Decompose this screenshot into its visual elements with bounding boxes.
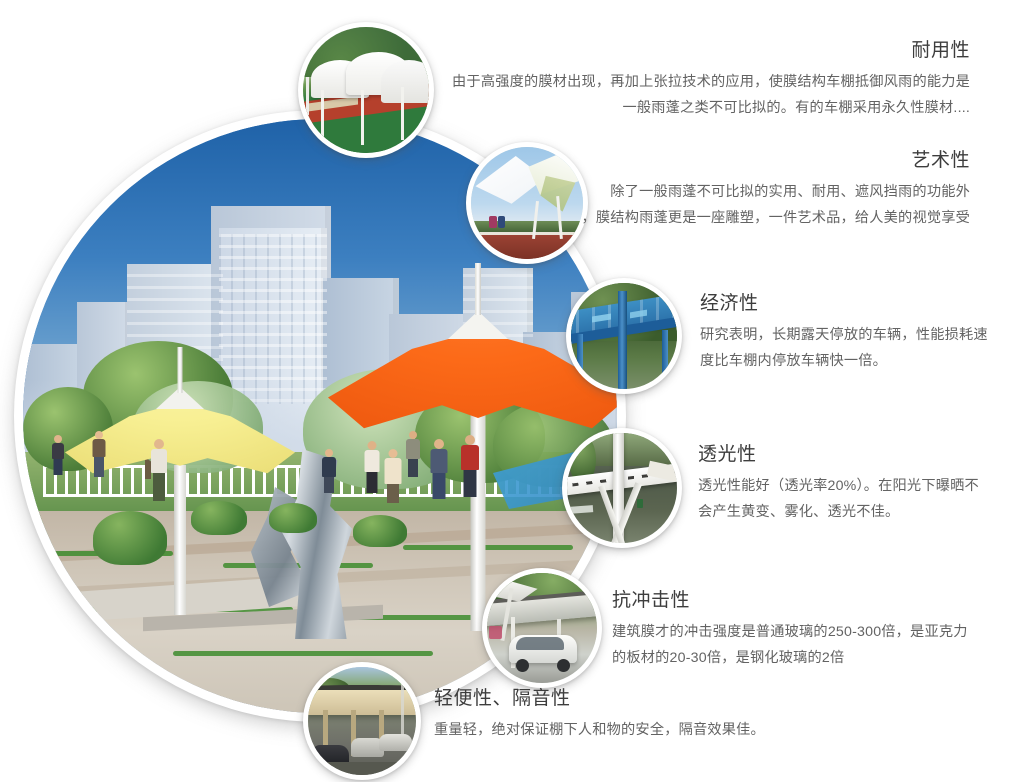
feature-heading: 耐用性 (430, 40, 970, 63)
feature-thumb-economy[interactable] (566, 278, 682, 394)
pedestrian (51, 435, 65, 475)
feature-heading: 抗冲击性 (612, 590, 1012, 613)
pedestrian (149, 439, 169, 501)
pedestrian (459, 435, 481, 497)
infographic-canvas: 耐用性 由于高强度的膜材出现，再加上张拉技术的应用，使膜结构车棚抵御风雨的能力是… (0, 0, 1023, 782)
pedestrian (405, 431, 421, 477)
feature-body: 重量轻，绝对保证棚下人和物的安全，隔音效果佳。 (434, 717, 854, 743)
thumb-image-car-under-carport (487, 573, 597, 683)
feature-text-economy: 经济性 研究表明，长期露天停放的车辆，性能损耗速 度比车棚内停放车辆快一倍。 (700, 293, 1000, 374)
feature-thumb-lightweight-soundproof[interactable] (303, 662, 421, 780)
feature-body: 透光性能好（透光率20%）。在阳光下曝晒不 会产生黄变、雾化、透光不佳。 (698, 473, 1008, 526)
canopy-pole (174, 465, 186, 615)
pedestrian (321, 449, 337, 493)
feature-text-lightweight-soundproof: 轻便性、隔音性 重量轻，绝对保证棚下人和物的安全，隔音效果佳。 (434, 688, 854, 743)
feature-thumb-durability[interactable] (298, 22, 434, 158)
feature-body: 建筑膜才的冲击强度是普通玻璃的250-300倍，是亚克力 的板材的20-30倍，… (612, 619, 1012, 672)
feature-text-durability: 耐用性 由于高强度的膜材出现，再加上张拉技术的应用，使膜结构车棚抵御风雨的能力是… (430, 40, 970, 121)
bush (191, 501, 247, 535)
feature-text-translucency: 透光性 透光性能好（透光率20%）。在阳光下曝晒不 会产生黄变、雾化、透光不佳。 (698, 444, 1008, 525)
feature-heading: 经济性 (700, 293, 1000, 316)
canopy-mast (178, 347, 183, 393)
feature-text-artistry: 艺术性 除了一般雨蓬不可比拟的实用、耐用、遮风挡雨的功能外 ，膜结构雨蓬更是一座… (470, 150, 970, 231)
bush (269, 503, 317, 533)
feature-heading: 艺术性 (470, 150, 970, 173)
pedestrian (383, 449, 403, 503)
thumb-image-beige-membrane-parking (308, 667, 416, 775)
pedestrian (429, 439, 449, 499)
thumb-image-blue-steel-carport (571, 283, 677, 389)
feature-body: 由于高强度的膜材出现，再加上张拉技术的应用，使膜结构车棚抵御风雨的能力是 一般雨… (430, 69, 970, 122)
feature-text-impact-resistance: 抗冲击性 建筑膜才的冲击强度是普通玻璃的250-300倍，是亚克力 的板材的20… (612, 590, 1012, 671)
feature-heading: 轻便性、隔音性 (434, 688, 854, 711)
thumb-image-white-membrane-sports-court (303, 27, 429, 153)
canopy-cap (448, 311, 508, 339)
bush (353, 515, 407, 547)
feature-body: 研究表明，长期露天停放的车辆，性能损耗速 度比车棚内停放车辆快一倍。 (700, 322, 1000, 375)
feature-heading: 透光性 (698, 444, 1008, 467)
thumb-image-membrane-beam-detail (567, 433, 677, 543)
feature-thumb-translucency[interactable] (562, 428, 682, 548)
feature-thumb-impact-resistance[interactable] (482, 568, 602, 688)
pedestrian (91, 431, 107, 477)
canopy-mast (475, 263, 481, 315)
pedestrian (363, 441, 381, 493)
bush (93, 511, 167, 565)
feature-body: 除了一般雨蓬不可比拟的实用、耐用、遮风挡雨的功能外 ，膜结构雨蓬更是一座雕塑，一… (470, 179, 970, 232)
